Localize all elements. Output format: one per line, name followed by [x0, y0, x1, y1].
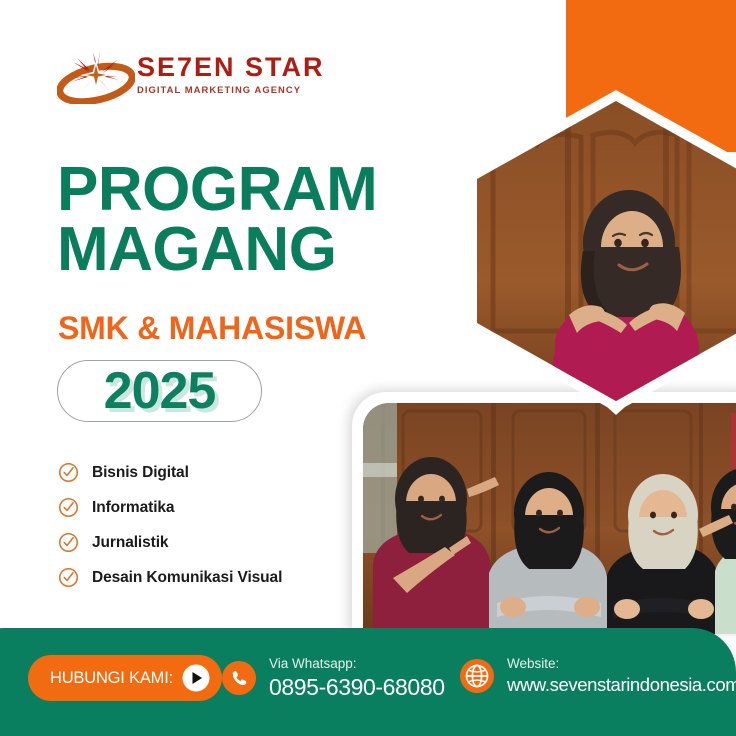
contact-us-button[interactable]: HUBUNGI KAMI: [28, 655, 222, 701]
list-item: Bisnis Digital [58, 455, 378, 490]
poster-canvas: SE7EN STAR DIGITAL MARKETING AGENCY PROG… [0, 0, 736, 736]
whatsapp-icon [222, 661, 256, 695]
brand-logo[interactable]: SE7EN STAR DIGITAL MARKETING AGENCY [57, 48, 307, 106]
program-list: Bisnis Digital Informatika Jurnalistik D… [58, 455, 378, 595]
play-arrow-icon [182, 664, 210, 692]
list-item-label: Informatika [92, 499, 174, 517]
logo-name: SE7EN STAR [137, 54, 325, 81]
list-item-label: Jurnalistik [92, 534, 168, 552]
year-value: 2025 [58, 361, 261, 421]
whatsapp-text: Via Whatsapp: 0895-6390-68080 [269, 657, 445, 699]
whatsapp-caption: Via Whatsapp: [269, 657, 445, 671]
logo-tagline: DIGITAL MARKETING AGENCY [137, 86, 328, 95]
website-text: Website: www.sevenstarindonesia.com [507, 657, 736, 694]
headline-line-2: MAGANG [57, 220, 377, 280]
hexagon-photo-top [466, 90, 736, 412]
poster-subtitle: SMK & MAHASISWA [58, 310, 366, 347]
headline-line-1: PROGRAM [57, 155, 377, 224]
list-item: Desain Komunikasi Visual [58, 560, 378, 595]
star-burst-icon [57, 48, 135, 104]
check-circle-icon [58, 462, 79, 483]
poster-headline: PROGRAM MAGANG [57, 160, 377, 280]
photo-image [363, 403, 736, 634]
check-circle-icon [58, 497, 79, 518]
globe-icon [460, 659, 494, 693]
website-url: www.sevenstarindonesia.com [507, 676, 736, 695]
contact-us-label: HUBUNGI KAMI: [50, 669, 173, 688]
website-contact[interactable]: Website: www.sevenstarindonesia.com [460, 657, 736, 694]
check-circle-icon [58, 567, 79, 588]
list-item-label: Desain Komunikasi Visual [92, 569, 282, 587]
list-item-label: Bisnis Digital [92, 464, 189, 482]
check-circle-icon [58, 532, 79, 553]
group-photo-bottom [352, 392, 736, 634]
logo-wordmark: SE7EN STAR DIGITAL MARKETING AGENCY [137, 54, 325, 95]
website-caption: Website: [507, 657, 736, 671]
whatsapp-contact[interactable]: Via Whatsapp: 0895-6390-68080 [222, 657, 445, 699]
list-item: Informatika [58, 490, 378, 525]
year-badge: 2025 [57, 360, 262, 422]
whatsapp-number: 0895-6390-68080 [269, 676, 445, 699]
list-item: Jurnalistik [58, 525, 378, 560]
